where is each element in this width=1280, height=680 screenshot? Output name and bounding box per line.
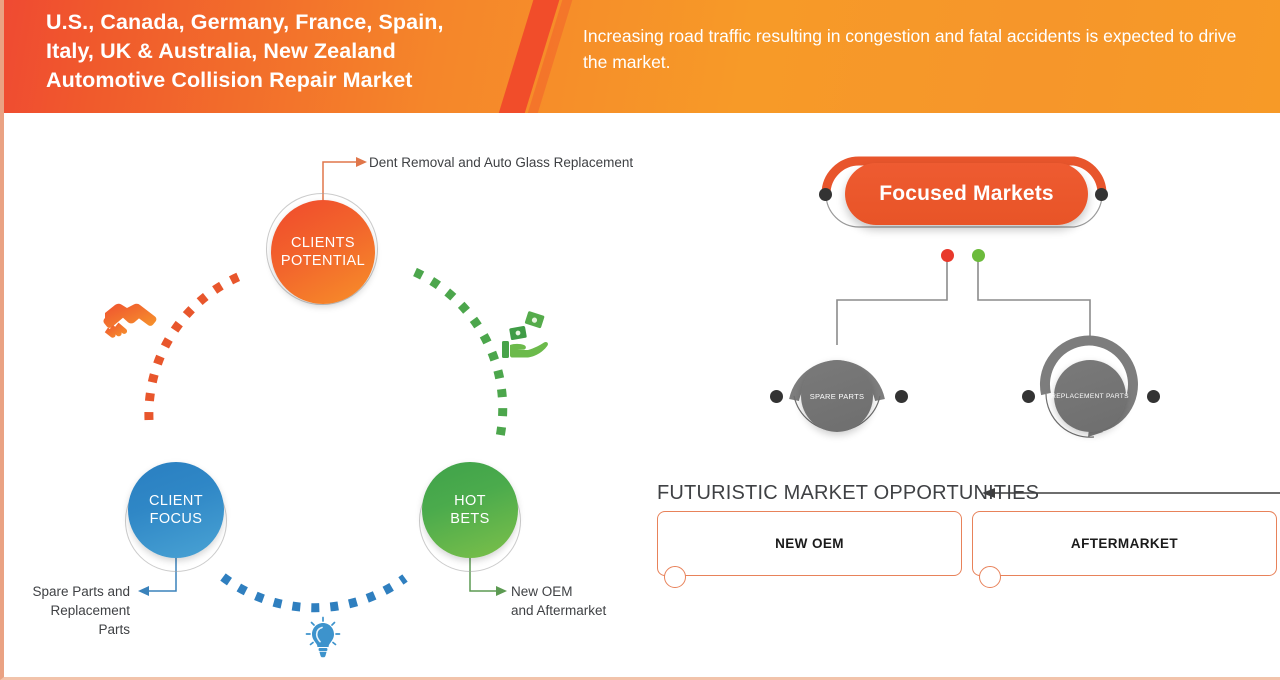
spare-parts-dot-left bbox=[770, 390, 783, 403]
infographic-root: U.S., Canada, Germany, France, Spain, It… bbox=[0, 0, 1280, 680]
futuristic-market-opportunities-title: FUTURISTIC MARKET OPPORTUNITIES bbox=[657, 482, 1039, 505]
opportunity-aftermarket-ring bbox=[979, 566, 1001, 588]
opportunity-aftermarket-label: AFTERMARKET bbox=[1071, 536, 1178, 551]
opportunity-box-new-oem[interactable]: NEW OEM bbox=[657, 511, 962, 576]
branch-node-red bbox=[941, 249, 954, 262]
spare-parts-dot-right bbox=[895, 390, 908, 403]
spare-parts-circle[interactable]: SPARE PARTS bbox=[801, 360, 873, 432]
opportunity-new-oem-ring bbox=[664, 566, 686, 588]
connector-spare-parts-branch bbox=[837, 258, 947, 345]
replacement-parts-dot-right bbox=[1147, 390, 1160, 403]
replacement-parts-circle-label: REPLACEMENT PARTS bbox=[1051, 393, 1129, 400]
focused-markets-dot-left bbox=[819, 188, 832, 201]
focused-markets-pill[interactable]: Focused Markets bbox=[845, 163, 1088, 225]
connector-replacement-parts-branch bbox=[978, 258, 1090, 345]
right-diagram-vectors bbox=[4, 0, 1280, 680]
spare-parts-circle-label: SPARE PARTS bbox=[810, 392, 865, 401]
replacement-parts-circle[interactable]: REPLACEMENT PARTS bbox=[1054, 360, 1126, 432]
replacement-parts-dot-left bbox=[1022, 390, 1035, 403]
opportunity-new-oem-label: NEW OEM bbox=[775, 536, 844, 551]
opportunity-box-aftermarket[interactable]: AFTERMARKET bbox=[972, 511, 1277, 576]
focused-markets-label: Focused Markets bbox=[879, 182, 1054, 206]
focused-markets-dot-right bbox=[1095, 188, 1108, 201]
branch-node-green bbox=[972, 249, 985, 262]
